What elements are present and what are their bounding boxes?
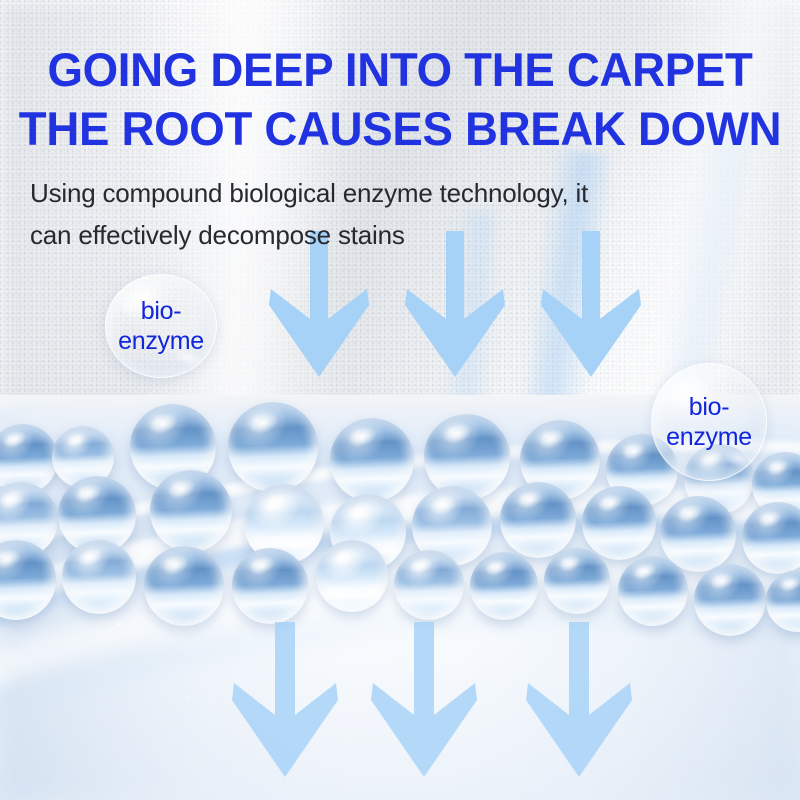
sparkle-speck [272,563,274,565]
penetration-arrow-down [523,622,635,777]
penetration-arrow-down [229,622,341,777]
sparkle-speck [612,547,615,550]
infographic-canvas: bio- enzyme bio- enzyme GOING DEEP INTO … [0,0,800,800]
sparkle-speck [348,591,351,594]
penetration-arrow-down [368,622,480,777]
headline: GOING DEEP INTO THE CARPET THE ROOT CAUS… [12,40,788,158]
subheadline-line-1: Using compound biological enzyme technol… [30,172,770,214]
subheadline-line-2: can effectively decompose stains [30,214,770,256]
headline-line-1: GOING DEEP INTO THE CARPET [12,40,788,99]
sparkle-speck [118,623,121,626]
bio-enzyme-bubble-right: bio- enzyme [651,363,767,481]
sparkle-speck [494,573,497,576]
sparkle-speck [186,697,188,699]
bio-enzyme-label: bio- enzyme [118,296,204,356]
subheadline: Using compound biological enzyme technol… [30,172,770,256]
bio-enzyme-bubble-left: bio- enzyme [105,274,217,378]
bio-enzyme-label: bio- enzyme [666,392,752,452]
headline-line-2: THE ROOT CAUSES BREAK DOWN [12,99,788,158]
